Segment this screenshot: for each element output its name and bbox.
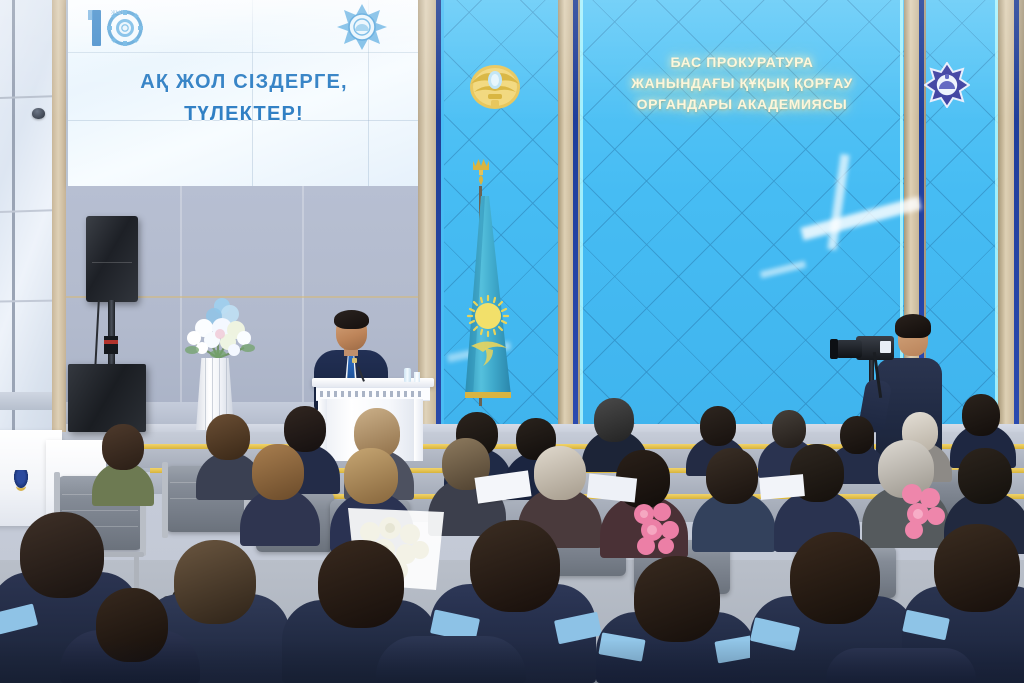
navy-inlay (573, 0, 578, 432)
audience-head (594, 398, 634, 442)
academy-eight-point-star-emblem-icon (924, 62, 970, 108)
anniversary-10-years-logo: ЖЫЛ (84, 4, 156, 52)
pink-flower-bouquet (896, 480, 950, 540)
programme-sheet (587, 474, 637, 503)
graduate-head (174, 540, 256, 624)
graduate-head (96, 588, 168, 662)
drinking-glass (414, 372, 420, 382)
wall-text-line1: БАС ПРОКУРАТУРА (580, 52, 904, 73)
graduate-head (934, 524, 1020, 612)
audience-head (534, 446, 586, 500)
window-mullion (12, 0, 15, 430)
kazakhstan-state-emblem-icon (466, 56, 524, 114)
podium-leg (414, 399, 423, 461)
audience-head (700, 406, 736, 446)
water-bottle (404, 368, 411, 382)
wood-pilaster (998, 0, 1024, 432)
pa-speaker-top (86, 216, 138, 302)
window-mullion (0, 299, 60, 302)
graduate-head (790, 532, 880, 624)
academy-star-emblem-icon (336, 2, 388, 52)
stage-flower-arrangement (178, 288, 260, 366)
speaker-stand-clamp (104, 336, 118, 354)
wall-text-line3: ОРГАНДАРЫ АКАДЕМИЯСЫ (580, 94, 904, 115)
glass-curtain-wall (0, 0, 60, 450)
screen-title: АҚ ЖОЛ СІЗДЕРГЕ, ТҮЛЕКТЕР! (68, 66, 420, 130)
wall-institution-name: БАС ПРОКУРАТУРА ЖАНЫНДАҒЫ ҚҰҚЫҚ ҚОРҒАУ О… (580, 52, 904, 115)
audience-head (962, 394, 1000, 436)
cameraman-hair (895, 314, 931, 338)
flag-trident-finial-icon (470, 158, 492, 188)
svg-text:ЖЫЛ: ЖЫЛ (111, 10, 123, 16)
conference-hall-photo: ЖЫЛ АҚ ЖОЛ СІЗДЕРГЕ, ТҮЛЕКТЕР! БАС ПРОКУ (0, 0, 1024, 683)
graduate-head (318, 540, 404, 628)
audience-head (706, 448, 758, 504)
screen-title-line1: АҚ ЖОЛ СІЗДЕРГЕ, (68, 66, 420, 98)
chair-frame (162, 462, 168, 538)
speaker-hair (334, 310, 369, 329)
audience-head (772, 410, 806, 448)
audience-head (958, 448, 1012, 504)
camera-lens-hood (830, 339, 838, 359)
window-mullion (0, 95, 60, 99)
screen-title-line2: ТҮЛЕКТЕР! (68, 98, 420, 130)
graduate-head (470, 520, 560, 612)
audience-head (284, 406, 326, 452)
dome-camera-icon (32, 108, 45, 119)
subwoofer-cabinet (68, 364, 146, 432)
graduate-head (634, 556, 720, 642)
wall-text-line2: ЖАНЫНДАҒЫ ҚҰҚЫҚ ҚОРҒАУ (580, 73, 904, 94)
audience-head (344, 448, 398, 504)
kazakhstan-flag-cloth (459, 196, 519, 404)
window-mullion (0, 209, 60, 213)
graduate-head (20, 512, 104, 598)
graduate-person (376, 636, 526, 683)
table-emblem (14, 470, 28, 488)
audience-head (252, 444, 304, 500)
camera-lcd-screen (880, 341, 891, 353)
speaker-stand-marker (104, 340, 118, 344)
navy-inlay (1014, 0, 1019, 432)
audience-head (206, 414, 250, 460)
audience-head (840, 416, 874, 454)
wall-seam (302, 186, 304, 432)
programme-sheet (759, 474, 805, 500)
graduate-person (826, 648, 976, 683)
audience-head (102, 424, 144, 470)
speaker-lapel-pin (352, 358, 357, 363)
camera-telephoto-lens (836, 340, 862, 358)
pink-flower-bouquet (628, 498, 684, 558)
